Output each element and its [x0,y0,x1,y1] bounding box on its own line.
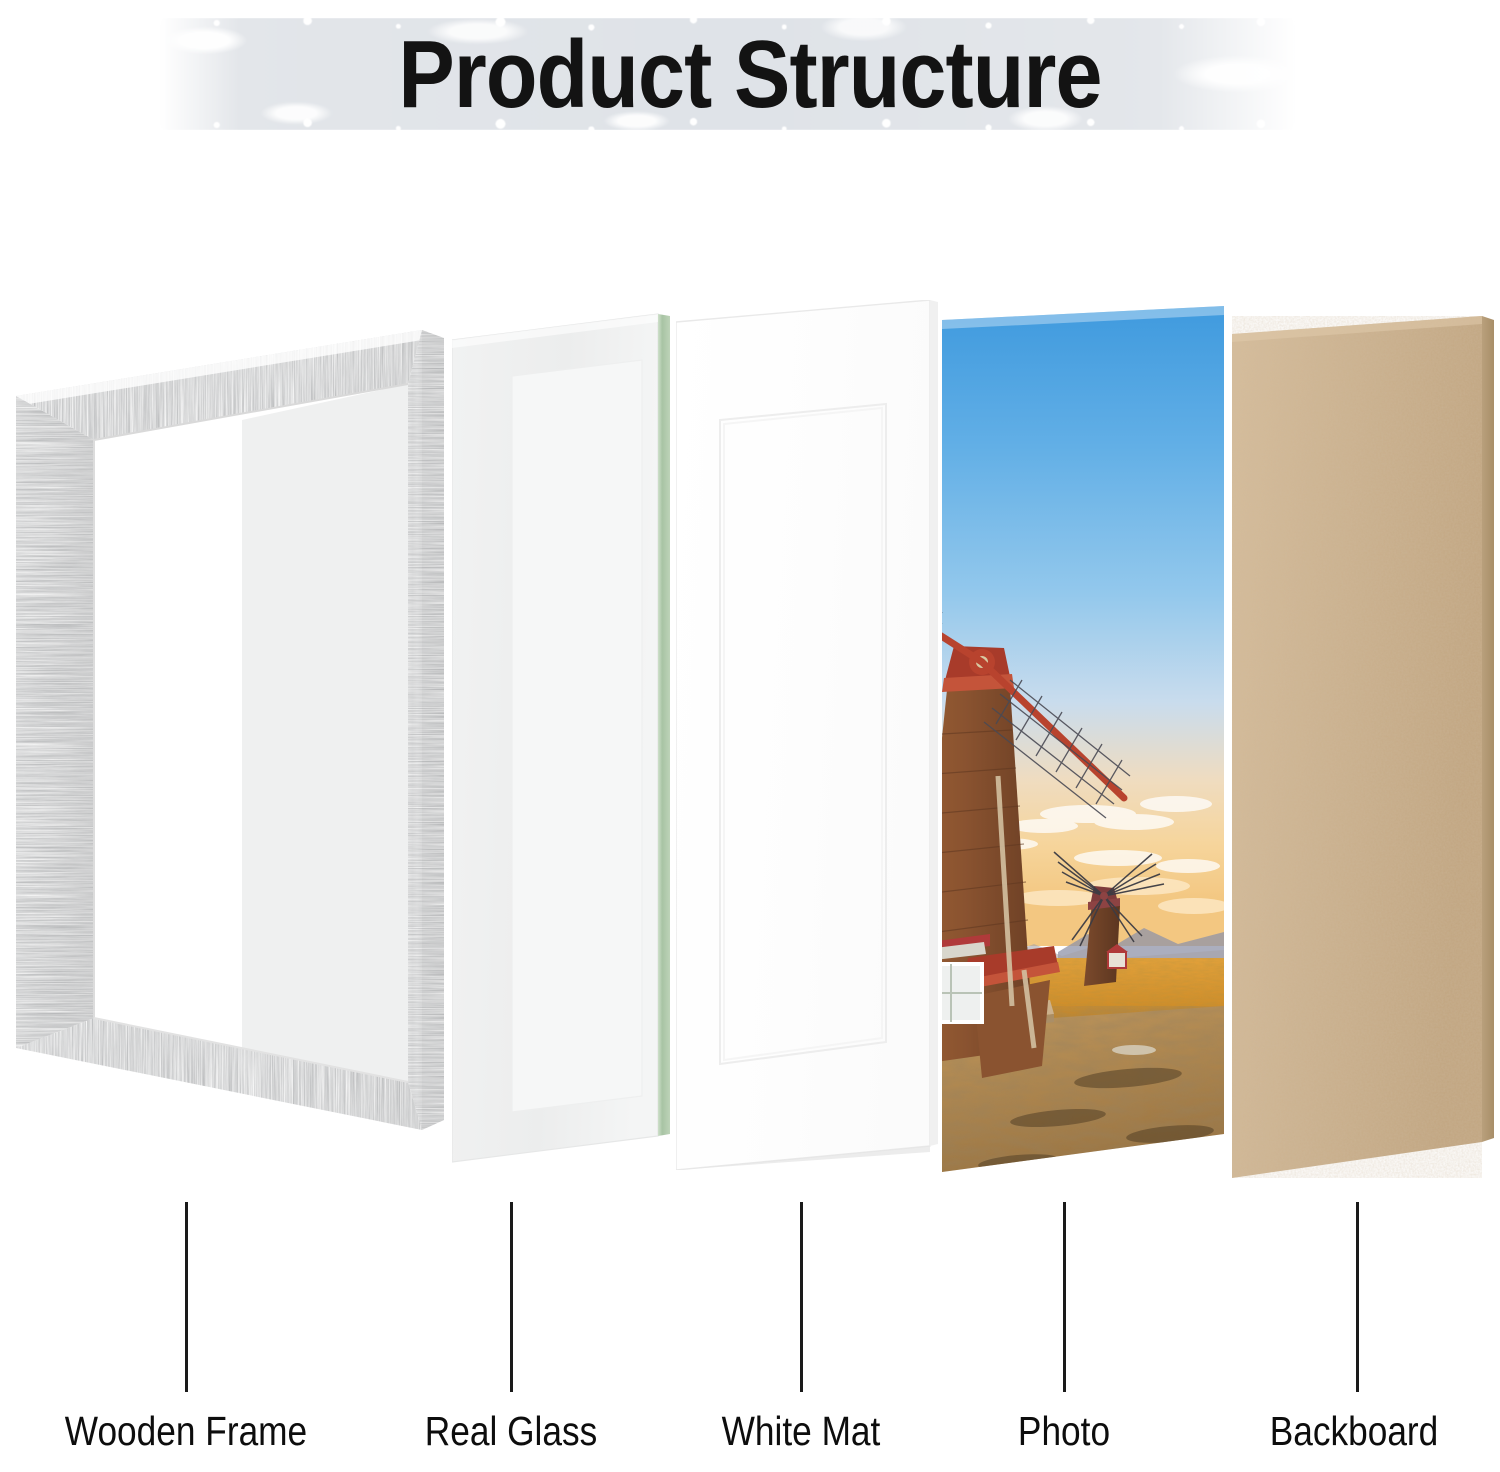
leader-line-white-mat [800,1202,803,1392]
title-banner: Product Structure [0,0,1500,150]
white-mat-graphic [676,300,946,1170]
real-glass-graphic [452,300,702,1170]
label-white-mat: White Mat [680,1408,923,1455]
leader-line-photo [1063,1202,1066,1392]
layer-photo [938,306,1224,1172]
label-photo: Photo [964,1408,1164,1455]
leader-line-backboard [1356,1202,1359,1392]
label-real-glass: Real Glass [390,1408,633,1455]
photo-graphic [938,306,1224,1172]
leader-line-real-glass [510,1202,513,1392]
backboard-graphic [1222,316,1494,1178]
wooden-frame-graphic [4,292,456,1162]
page-title: Product Structure [90,0,1410,150]
layer-real-glass [452,300,702,1170]
product-structure-diagram: Product Structure [0,0,1500,1472]
label-backboard: Backboard [1228,1408,1479,1455]
label-wooden-frame: Wooden Frame [26,1408,346,1455]
leader-line-wooden-frame [185,1202,188,1392]
layer-wooden-frame [4,292,456,1162]
layer-white-mat [676,300,946,1170]
layer-labels: Wooden Frame Real Glass White Mat Photo … [0,1408,1500,1472]
layer-backboard [1222,316,1494,1178]
